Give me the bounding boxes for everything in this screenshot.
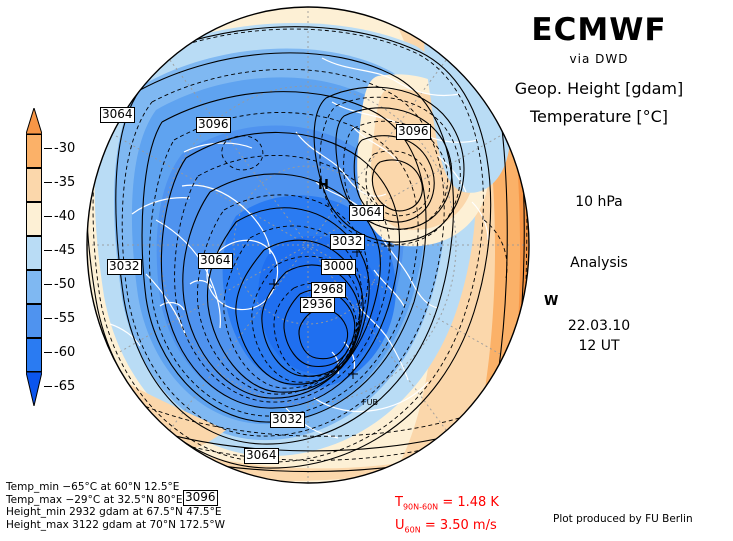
colorbar-top-arrow-icon [26, 108, 42, 134]
colorbar-band-6 [26, 304, 42, 338]
colorbar-bottom-arrow-icon [26, 372, 42, 406]
zonal-wind-symbol: U [395, 518, 405, 533]
stat-height-max: Height_max 3122 gdam at 70°N 172.5°W [6, 519, 225, 532]
colorbar-tick-2: -40 [44, 209, 75, 224]
colorbar-tick-6: -60 [44, 345, 75, 360]
temp-gradient-symbol: T [395, 495, 403, 510]
colorbar-tick-7: -65 [44, 379, 75, 394]
temperature-colorbar: -30 -35 -40 -45 -50 -55 -60 -65 [14, 108, 92, 418]
datetime-label: 22.03.10 12 UT [470, 316, 728, 357]
statistics-block: Temp_min −65°C at 60°N 12.5°E Temp_max −… [6, 481, 225, 531]
contour-label-3032-w: 3032 [107, 259, 142, 275]
date-label: 22.03.10 [470, 316, 728, 336]
diagnostics-block: T90N-60N = 1.48 K U60N = 3.50 m/s [395, 494, 499, 539]
colorbar-band-3 [26, 202, 42, 236]
high-center-marker: H [318, 178, 329, 193]
contour-label-2936: 2936 [300, 297, 335, 313]
zonal-wind-value: = 3.50 m/s [425, 518, 497, 533]
run-type-label: Analysis [470, 255, 728, 271]
source-subtitle: via DWD [470, 52, 728, 66]
fub-station-marker: FUB [362, 398, 378, 407]
plot-credit: Plot produced by FU Berlin [553, 513, 693, 525]
time-label: 12 UT [470, 336, 728, 356]
field-label-height: Geop. Height [gdam] [470, 79, 728, 98]
colorbar-band-4 [26, 236, 42, 270]
stat-temp-min: Temp_min −65°C at 60°N 12.5°E [6, 481, 225, 494]
colorbar-band-2 [26, 168, 42, 202]
contour-label-3000: 3000 [321, 259, 356, 275]
contour-label-3064-s: 3064 [244, 448, 279, 464]
page-title: ECMWF [470, 14, 728, 47]
stat-temp-max: Temp_max −29°C at 32.5°N 80°E [6, 494, 225, 507]
colorbar-tick-3: -45 [44, 243, 75, 258]
contour-label-3096-ne: 3096 [396, 124, 431, 140]
temp-gradient-subscript: 90N-60N [403, 503, 438, 512]
colorbar-tick-4: -50 [44, 277, 75, 292]
colorbar-band-1 [26, 134, 42, 168]
colorbar-band-5 [26, 270, 42, 304]
stat-height-min: Height_min 2932 gdam at 67.5°N 47.5°E [6, 506, 225, 519]
contour-label-3032-s: 3032 [270, 412, 305, 428]
temp-gradient-value: = 1.48 K [442, 495, 499, 510]
colorbar-tick-0: -30 [44, 141, 75, 156]
zonal-wind-subscript: 60N [405, 525, 421, 534]
contour-label-3064-c: 3064 [198, 253, 233, 269]
contour-label-2968: 2968 [311, 282, 346, 298]
map-canvas [86, 6, 530, 484]
pressure-level-label: 10 hPa [470, 194, 728, 210]
temp-gradient-line: T90N-60N = 1.48 K [395, 494, 499, 517]
colorbar-tick-1: -35 [44, 175, 75, 190]
colorbar-tick-5: -55 [44, 311, 75, 326]
polar-stereographic-map: 3064 3096 3096 3064 3032 3032 3064 3000 … [86, 6, 530, 484]
colorbar-band-7 [26, 338, 42, 372]
header-block: ECMWF via DWD Geop. Height [gdam] Temper… [470, 14, 728, 126]
contour-label-3096-n: 3096 [196, 117, 231, 133]
contour-label-3032-e: 3032 [330, 234, 365, 250]
temperature-shading [86, 6, 530, 484]
contour-label-3064-nw: 3064 [100, 107, 135, 123]
info-block: 10 hPa Analysis 22.03.10 12 UT [470, 194, 728, 357]
field-label-temperature: Temperature [°C] [470, 107, 728, 126]
zonal-wind-line: U60N = 3.50 m/s [395, 517, 499, 540]
contour-label-3064-e: 3064 [349, 205, 384, 221]
